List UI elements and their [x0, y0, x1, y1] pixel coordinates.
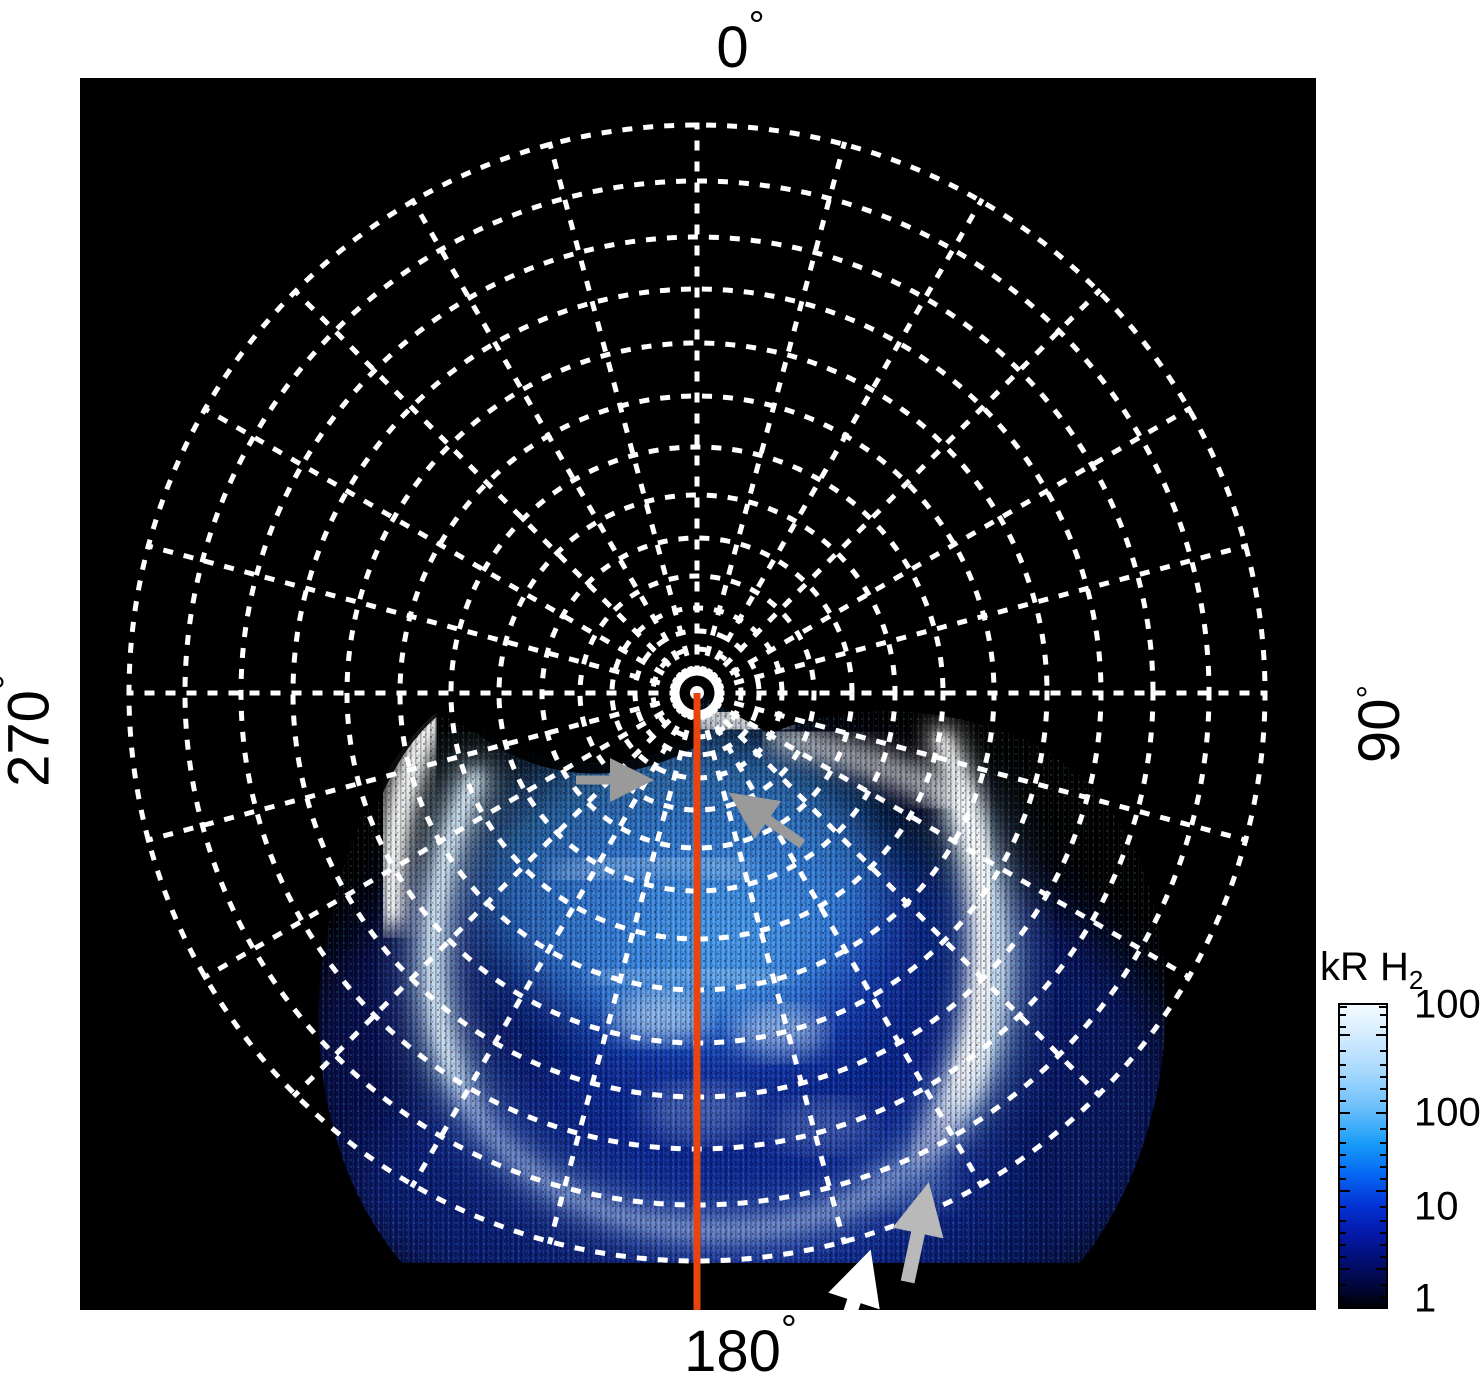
azimuth-label-0: 0°	[0, 6, 1481, 77]
colorbar-tick-labels: 1000 100 10 1	[1338, 1003, 1388, 1309]
azimuth-label-270-value: 270	[0, 690, 62, 787]
polar-plot-svg	[80, 78, 1316, 1310]
polar-aurora-plot	[80, 78, 1316, 1310]
azimuth-label-270: 270°	[0, 641, 59, 821]
degree-symbol-bottom: °	[781, 1308, 797, 1352]
degree-symbol-left: °	[0, 674, 30, 690]
azimuth-label-90-value: 90	[1347, 699, 1412, 764]
degree-symbol-right: °	[1351, 685, 1389, 699]
colorbar-tick-1000: 1000	[1414, 983, 1481, 1028]
colorbar-tick-10: 10	[1414, 1185, 1459, 1230]
azimuth-label-0-value: 0	[716, 15, 748, 80]
figure-root: 0° 180° 270° 90° kR H2	[0, 0, 1481, 1386]
colorbar: kR H2	[1320, 945, 1481, 1325]
colorbar-tick-1: 1	[1414, 1277, 1436, 1322]
azimuth-label-90: 90°	[1351, 634, 1409, 814]
colorbar-title: kR H2	[1320, 945, 1423, 996]
azimuth-label-180: 180°	[0, 1310, 1481, 1381]
azimuth-label-180-value: 180	[684, 1319, 781, 1384]
degree-symbol-top: °	[749, 4, 765, 48]
colorbar-title-main: kR H	[1320, 945, 1409, 989]
colorbar-tick-100: 100	[1414, 1091, 1481, 1136]
